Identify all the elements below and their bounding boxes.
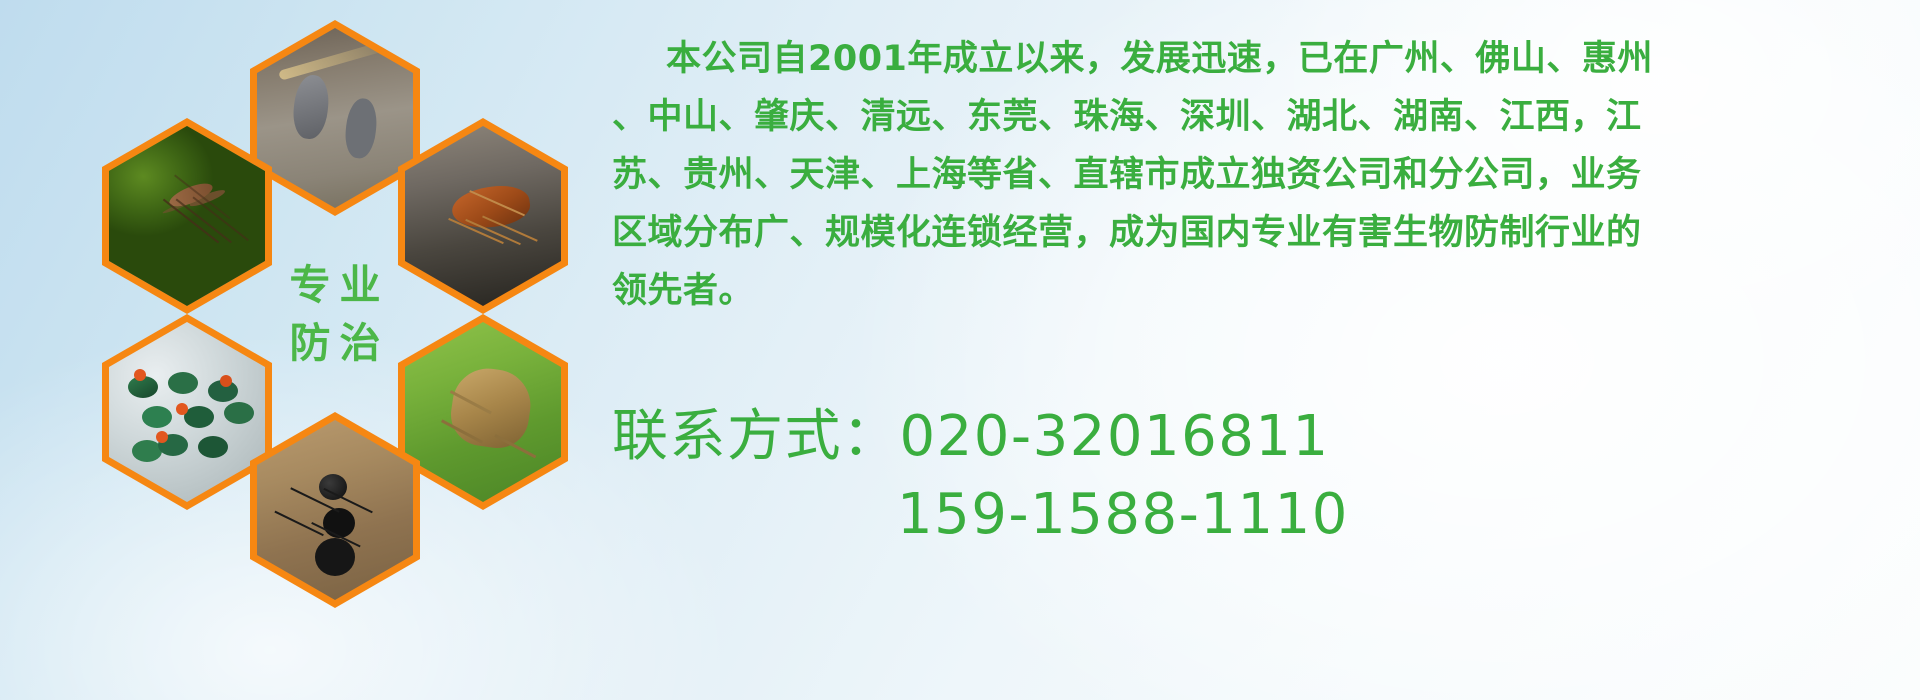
hex-cell-ant [250, 412, 420, 608]
contact-block: 联系方式：020-32016811 159-1588-1110 [612, 398, 1902, 554]
hex-cell-flies [102, 314, 272, 510]
hex-inner-mosquito [109, 126, 265, 306]
promo-banner: 专业 防治 本公司自2001年成立以来，发展迅速，已在广州、佛山、惠州 、中山、… [0, 0, 1920, 700]
rats-photo [257, 28, 413, 208]
description-line-4: 区域分布广、规模化连锁经营，成为国内专业有害生物防制行业的 [612, 204, 1902, 262]
hex-cell-rats [250, 20, 420, 216]
description-line-2: 、中山、肇庆、清远、东莞、珠海、深圳、湖北、湖南、江西，江 [612, 88, 1902, 146]
ant-photo [257, 420, 413, 600]
description-line-5: 领先者。 [612, 262, 1902, 320]
hex-inner-flies [109, 322, 265, 502]
honeycomb-image-cluster: 专业 防治 [88, 8, 588, 588]
hex-cell-center-label: 专业 防治 [250, 216, 420, 412]
center-label-line-2: 防治 [281, 314, 390, 372]
hex-cell-stinkbug [398, 314, 568, 510]
stinkbug-photo [405, 322, 561, 502]
contact-phone-secondary[interactable]: 159-1588-1110 [612, 476, 1902, 554]
hex-inner-ant [257, 420, 413, 600]
hex-inner-rats [257, 28, 413, 208]
hex-inner-stinkbug [405, 322, 561, 502]
description-line-3: 苏、贵州、天津、上海等省、直辖市成立独资公司和分公司，业务 [612, 146, 1902, 204]
hex-cell-mosquito [102, 118, 272, 314]
flies-photo [109, 322, 265, 502]
company-description: 本公司自2001年成立以来，发展迅速，已在广州、佛山、惠州 、中山、肇庆、清远、… [612, 30, 1902, 320]
hex-inner-center-label: 专业 防治 [257, 224, 413, 404]
center-label-line-1: 专业 [281, 256, 390, 314]
cockroach-photo [405, 126, 561, 306]
hex-cell-cockroach [398, 118, 568, 314]
description-line-1: 本公司自2001年成立以来，发展迅速，已在广州、佛山、惠州 [612, 30, 1902, 88]
hex-inner-cockroach [405, 126, 561, 306]
contact-phone-primary[interactable]: 联系方式：020-32016811 [612, 398, 1902, 476]
mosquito-photo [109, 126, 265, 306]
